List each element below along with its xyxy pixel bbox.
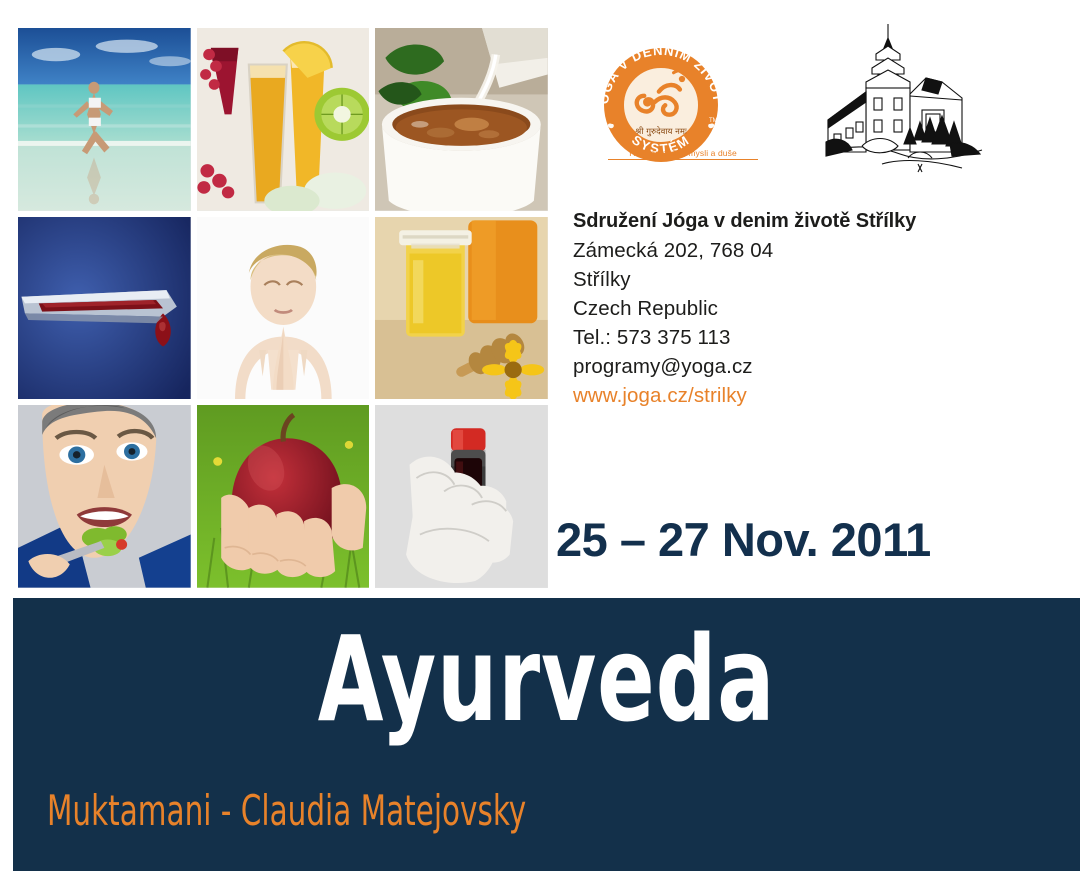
photo-pouring-tea (375, 28, 548, 211)
address-website[interactable]: www.joga.cz/strilky (573, 381, 1043, 410)
logo-tagline: Harmonie těla, mysli a duše (608, 148, 758, 160)
photo-blood-drop-lancet (18, 217, 191, 400)
address-city: Střílky (573, 265, 1043, 294)
photo-hands-holding-apple (197, 405, 370, 588)
svg-text:श्री गुरुदेवाय नमः: श्री गुरुदेवाय नमः (635, 126, 687, 137)
strilky-chateau-drawing (822, 24, 992, 189)
photo-man-eating-salad (18, 405, 191, 588)
photo-fruit-juices (197, 28, 370, 211)
organisation-name: Sdružení Jóga v denim životě Střílky (573, 207, 1043, 236)
svg-text:TM: TM (709, 118, 718, 124)
address-phone: Tel.: 573 375 113 (573, 323, 1043, 352)
event-date: 25 – 27 Nov. 2011 (556, 512, 931, 567)
photo-woman-running-beach (18, 28, 191, 211)
brand-row: JÓGA V DENNÍM ŽIVOTĚ SYSTÉM श्री गुरुदेव… (560, 24, 1060, 189)
phone-number: 573 375 113 (617, 326, 731, 349)
photo-collage-grid (18, 28, 548, 588)
event-title: Ayurveda (120, 620, 974, 738)
address-street: Zámecká 202, 768 04 (573, 236, 1043, 265)
photo-gloved-hand-blood-vial (375, 405, 548, 588)
photo-woman-meditating (197, 217, 370, 400)
presenter-name: Muktamani - Claudia Matejovsky (47, 790, 526, 832)
phone-label: Tel.: (573, 326, 611, 349)
address-block: Sdružení Jóga v denim životě Střílky Zám… (573, 207, 1043, 410)
address-country: Czech Republic (573, 294, 1043, 323)
address-email[interactable]: programy@yoga.cz (573, 352, 1043, 381)
event-banner-panel: Ayurveda Muktamani - Claudia Matejovsky (13, 598, 1080, 871)
photo-honey-jars (375, 217, 548, 400)
